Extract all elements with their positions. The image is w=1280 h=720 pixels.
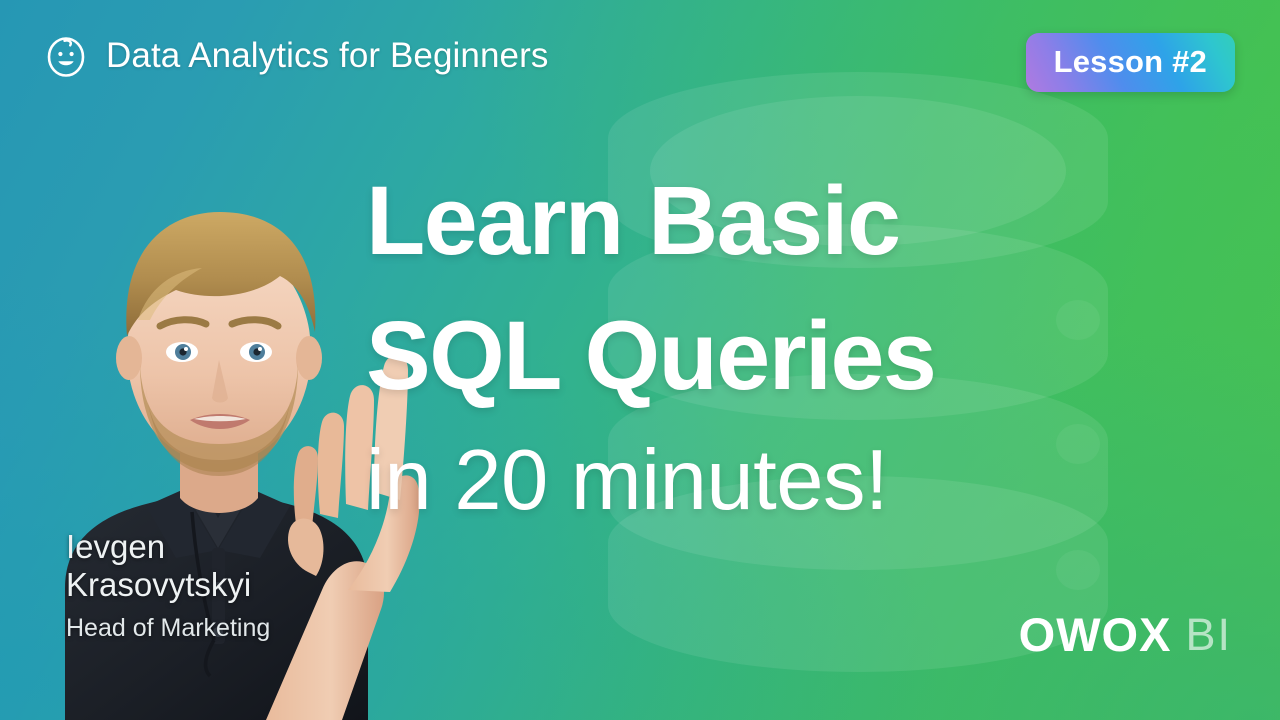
owox-bi-logo[interactable]: OWOX BI bbox=[1019, 611, 1232, 658]
presenter-head bbox=[116, 212, 322, 476]
presenter-caption: Ievgen Krasovytskyi Head of Marketing bbox=[66, 528, 270, 643]
headline-line-3: in 20 minutes! bbox=[366, 438, 1086, 523]
lesson-badge[interactable]: Lesson #2 bbox=[1026, 33, 1235, 92]
presenter-role: Head of Marketing bbox=[66, 614, 270, 643]
headline-line-2: SQL Queries bbox=[366, 307, 1086, 404]
lesson-badge-label: Lesson #2 bbox=[1054, 46, 1207, 77]
header: Data Analytics for Beginners bbox=[44, 34, 548, 78]
presenter-name: Ievgen Krasovytskyi bbox=[66, 528, 270, 604]
headline-line-1: Learn Basic bbox=[366, 172, 1086, 269]
logo-product-text: BI bbox=[1185, 612, 1232, 657]
database-indicator-dot bbox=[1056, 550, 1100, 590]
logo-brand-text: OWOX bbox=[1019, 611, 1172, 658]
baby-face-icon bbox=[44, 34, 88, 78]
headline: Learn Basic SQL Queries in 20 minutes! bbox=[366, 172, 1086, 523]
series-title: Data Analytics for Beginners bbox=[106, 36, 548, 76]
thumbnail-canvas: Data Analytics for Beginners Lesson #2 L… bbox=[0, 0, 1280, 720]
